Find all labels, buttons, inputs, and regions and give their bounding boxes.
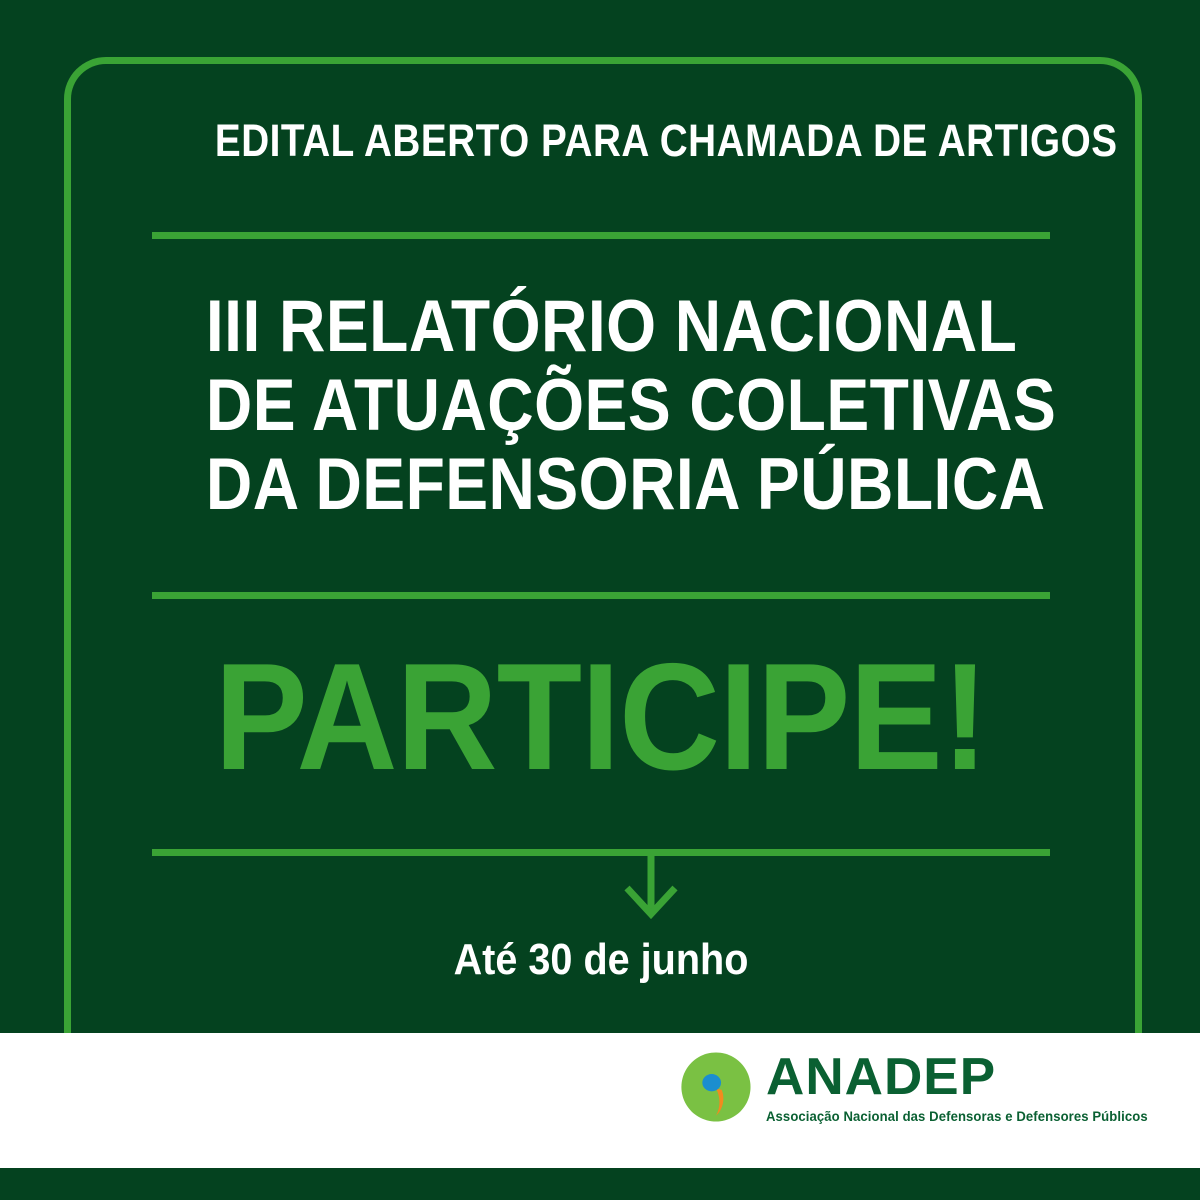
poster-canvas: EDITAL ABERTO PARA CHAMADA DE ARTIGOS II… xyxy=(0,0,1200,1200)
poster-title-line-3: DA DEFENSORIA PÚBLICA xyxy=(206,446,996,525)
poster-title-line-2: DE ATUAÇÕES COLETIVAS xyxy=(206,367,996,446)
anadep-logo-text: ANADEP Associação Nacional das Defensora… xyxy=(766,1051,1160,1124)
bottom-accent-bar xyxy=(0,1168,1200,1200)
deadline-text: Até 30 de junho xyxy=(197,938,1005,982)
anadep-circle-emblem-icon xyxy=(680,1051,752,1123)
poster-title-line-1: III RELATÓRIO NACIONAL xyxy=(206,288,996,367)
footer-band: ANADEP Associação Nacional das Defensora… xyxy=(0,1033,1200,1168)
call-to-action-text: PARTICIPE! xyxy=(188,641,1014,793)
divider-rule-middle xyxy=(152,592,1050,599)
anadep-tagline: Associação Nacional das Defensoras e Def… xyxy=(766,1110,1148,1124)
poster-title: III RELATÓRIO NACIONAL DE ATUAÇÕES COLET… xyxy=(206,288,996,524)
poster-content: EDITAL ABERTO PARA CHAMADA DE ARTIGOS II… xyxy=(152,0,1050,1033)
divider-rule-top xyxy=(152,232,1050,239)
anadep-logo: ANADEP Associação Nacional das Defensora… xyxy=(680,1051,1160,1124)
poster-kicker-text: EDITAL ABERTO PARA CHAMADA DE ARTIGOS xyxy=(215,118,987,163)
poster-green-panel: EDITAL ABERTO PARA CHAMADA DE ARTIGOS II… xyxy=(0,0,1200,1033)
anadep-wordmark: ANADEP xyxy=(766,1051,996,1103)
